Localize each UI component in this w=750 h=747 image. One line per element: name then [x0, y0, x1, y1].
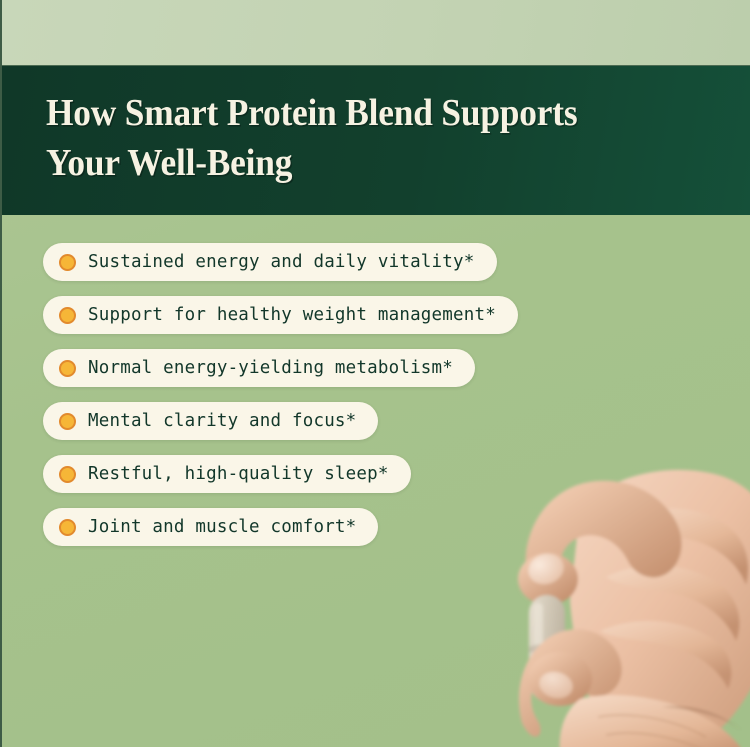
top-accent-strip	[2, 0, 750, 66]
list-item-label: Normal energy-yielding metabolism*	[88, 358, 453, 378]
circle-bullet-icon	[59, 519, 76, 536]
list-item-label: Support for healthy weight management*	[88, 305, 496, 325]
list-item: Normal energy-yielding metabolism*	[43, 349, 475, 387]
list-item: Restful, high-quality sleep*	[43, 455, 411, 493]
list-item: Support for healthy weight management*	[43, 296, 518, 334]
header-band: How Smart Protein Blend Supports Your We…	[2, 66, 750, 215]
list-item-label: Restful, high-quality sleep*	[88, 464, 389, 484]
promo-card: How Smart Protein Blend Supports Your We…	[0, 0, 750, 747]
list-item-label: Sustained energy and daily vitality*	[88, 252, 475, 272]
circle-bullet-icon	[59, 254, 76, 271]
circle-bullet-icon	[59, 413, 76, 430]
list-item: Sustained energy and daily vitality*	[43, 243, 497, 281]
page-title: How Smart Protein Blend Supports Your We…	[46, 88, 641, 188]
list-item-label: Mental clarity and focus*	[88, 411, 356, 431]
circle-bullet-icon	[59, 466, 76, 483]
benefits-list: Sustained energy and daily vitality* Sup…	[43, 243, 518, 546]
list-item-label: Joint and muscle comfort*	[88, 517, 356, 537]
circle-bullet-icon	[59, 360, 76, 377]
list-item: Mental clarity and focus*	[43, 402, 378, 440]
circle-bullet-icon	[59, 307, 76, 324]
list-item: Joint and muscle comfort*	[43, 508, 378, 546]
